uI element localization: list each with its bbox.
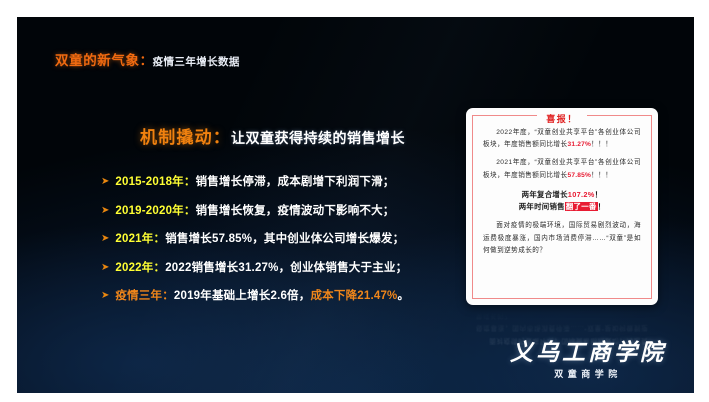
news-card: 喜报！ 2022年度，“双童创业共享平台”各创业体公司板块，年度销售额同比增长3… [466, 108, 658, 305]
list-item: ➤ 2021年： 销售增长57.85%，其中创业体公司增长爆发； [101, 230, 473, 259]
news-growth-label: 两年复合增长 [522, 190, 568, 199]
list-item-text: 销售增长恢复，疫情波动下影响不大； [196, 202, 395, 218]
arrow-right-icon: ➤ [101, 291, 109, 301]
list-item: ➤ 疫情三年： 2019年基础上增长2.6倍， 成本下降21.47% 。 [101, 287, 473, 316]
news-card-title-text: 喜报！ [537, 114, 587, 124]
news-p2-text-a: 2021年度，“双童创业共享平台”各创业体公司板块，年度销售额同比增长 [483, 159, 641, 178]
list-item: ➤ 2015-2018年： 销售增长停滞，成本剧增下利润下滑； [101, 173, 473, 202]
news-p2-percent: 57.85% [568, 172, 592, 179]
page-title-rest: 让双童获得持续的销售增长 [231, 130, 405, 146]
header-colon: ： [140, 53, 153, 68]
news-card-border: 喜报！ 2022年度，“双童创业共享平台”各创业体公司板块，年度销售额同比增长3… [472, 115, 652, 299]
page-title: 机制撬动：让双童获得持续的销售增长 [140, 129, 405, 147]
news-p1-percent: 31.27% [568, 141, 592, 148]
news-double-label: 两年时间销售 [519, 202, 565, 211]
news-card-title: 喜报！ [473, 109, 651, 127]
arrow-right-icon: ➤ [101, 234, 109, 244]
news-paragraph-1: 2022年度，“双童创业共享平台”各创业体公司板块，年度销售额同比增长31.27… [483, 127, 641, 151]
arrow-right-icon: ➤ [101, 177, 109, 187]
list-item-text: 销售增长57.85%，其中创业体公司增长爆发； [165, 230, 404, 246]
list-item-tail: 。 [397, 287, 409, 303]
slide-canvas: 双童的新气象：疫情三年增长数据 机制撬动：让双童获得持续的销售增长 ➤ 2015… [17, 17, 694, 393]
news-paragraph-2: 2021年度，“双童创业共享平台”各创业体公司板块，年度销售额同比增长57.85… [483, 157, 641, 181]
list-item: ➤ 2022年： 2022销售增长31.27%，创业体销售大于主业； [101, 259, 473, 288]
list-item-label: 疫情三年： [115, 287, 174, 303]
list-item-text: 2022销售增长31.27%，创业体销售大于主业； [165, 259, 407, 275]
bullet-list: ➤ 2015-2018年： 销售增长停滞，成本剧增下利润下滑； ➤ 2019-2… [101, 173, 473, 316]
news-card-body: 2022年度，“双童创业共享平台”各创业体公司板块，年度销售额同比增长31.27… [483, 127, 641, 257]
news-growth-value: 107.2% [568, 190, 595, 199]
slide-header: 双童的新气象：疫情三年增长数据 [55, 53, 240, 69]
list-item-label: 2022年： [115, 259, 165, 275]
list-item-emphasis: 成本下降21.47% [310, 287, 397, 303]
list-item-text: 2019年基础上增长2.6倍， [174, 287, 311, 303]
arrow-right-icon: ➤ [101, 263, 109, 273]
page-title-highlight: 机制撬动： [140, 128, 231, 147]
header-subtitle: 疫情三年增长数据 [153, 56, 240, 68]
news-p1-text-b: ！！！ [591, 141, 612, 148]
news-p2-text-b: ！！！ [591, 172, 612, 179]
list-item-label: 2021年： [115, 230, 165, 246]
logo: 义乌工商学院 双童商学院 [510, 341, 666, 379]
arrow-right-icon: ➤ [101, 206, 109, 216]
news-growth-mark: ！ [595, 190, 603, 199]
news-paragraph-3: 面对疫情的极端环境，国际贸易剧烈波动，海运费极度暴涨，国内市场消费停滞……“双童… [483, 220, 641, 257]
list-item-label: 2019-2020年： [115, 202, 195, 218]
list-item: ➤ 2019-2020年： 销售增长恢复，疫情波动下影响不大； [101, 202, 473, 231]
news-double-mark: ！ [598, 202, 606, 211]
logo-sub-text: 双童商学院 [510, 370, 666, 379]
news-p1-text-a: 2022年度，“双童创业共享平台”各创业体公司板块，年度销售额同比增长 [483, 129, 641, 148]
list-item-label: 2015-2018年： [115, 173, 195, 189]
list-item-text: 销售增长停滞，成本剧增下利润下滑； [196, 173, 395, 189]
news-double-value: 翻了一番 [565, 202, 598, 211]
logo-main-text: 义乌工商学院 [510, 341, 666, 364]
news-highlight-block: 两年复合增长107.2%！ 两年时间销售翻了一番！ [483, 189, 641, 213]
header-title: 双童的新气象 [55, 53, 140, 68]
